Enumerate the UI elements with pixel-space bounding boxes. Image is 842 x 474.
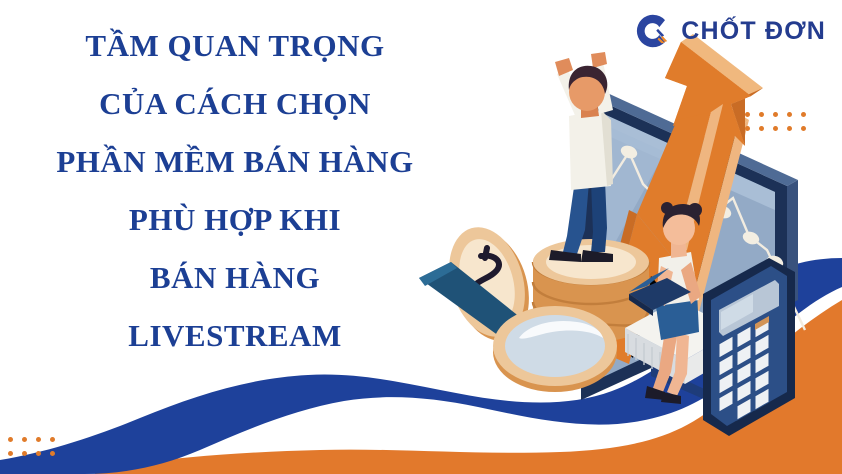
headline-line-2: CỦA CÁCH CHỌN <box>0 88 470 119</box>
headline-line-1: TẦM QUAN TRỌNG <box>0 30 470 61</box>
headline-line-6: LIVESTREAM <box>0 320 470 351</box>
headline-line-4: PHÙ HỢP KHI <box>0 204 470 235</box>
isometric-sales-growth-illustration <box>415 0 842 474</box>
brand-logo-text: CHỐT ĐƠN <box>681 19 826 44</box>
headline-line-3: PHẦN MỀM BÁN HÀNG <box>0 146 470 177</box>
headline-block: TẦM QUAN TRỌNG CỦA CÁCH CHỌN PHẦN MỀM BÁ… <box>0 30 470 351</box>
brand-logo[interactable]: CHỐT ĐƠN <box>630 10 826 52</box>
chot-don-c-logo-icon <box>630 10 672 52</box>
dot-grid-left-icon <box>8 437 55 456</box>
dot-grid-right-icon <box>745 112 806 131</box>
headline-line-5: BÁN HÀNG <box>0 262 470 293</box>
banner-canvas: TẦM QUAN TRỌNG CỦA CÁCH CHỌN PHẦN MỀM BÁ… <box>0 0 842 474</box>
person-pushing-arrow-icon <box>549 52 613 262</box>
